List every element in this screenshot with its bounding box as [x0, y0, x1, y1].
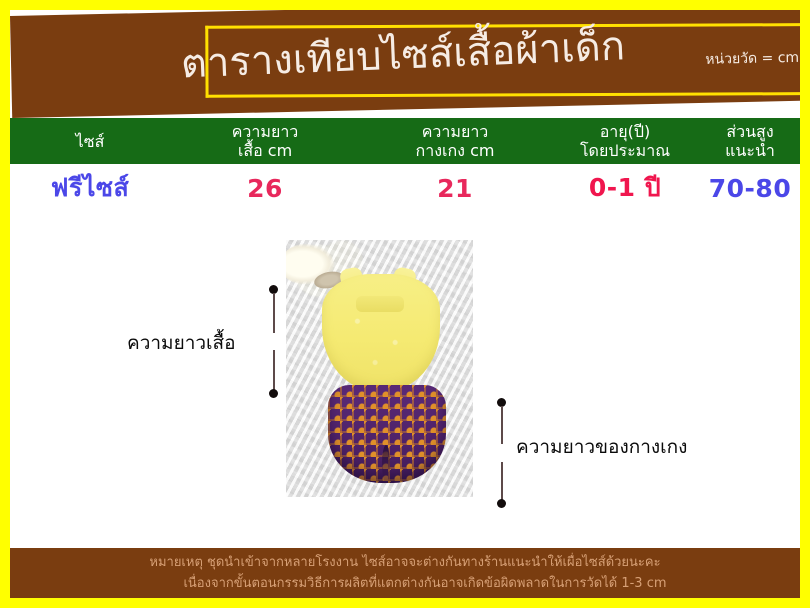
column-header-age-line2: โดยประมาณ [580, 141, 670, 160]
column-header-size-line1: ไซส์ [76, 132, 105, 151]
column-header-height-line2: แนะนำ [725, 141, 775, 160]
garment-bodice [356, 296, 404, 312]
cell-size: ฟรีไซส์ [10, 168, 170, 208]
header-banner: ตารางเทียบไซส์เสื้อผ้าเด็ก หน่วยวัด = cm [10, 10, 800, 118]
cell-shirt-length: 26 [170, 174, 360, 203]
annotation-shirt-length: ความยาวเสื้อ [127, 328, 236, 358]
size-chart-infographic: ตารางเทียบไซส์เสื้อผ้าเด็ก หน่วยวัด = cm… [0, 0, 810, 608]
column-header-shirt-length: ความยาว เสื้อ cm [170, 122, 360, 160]
column-header-shirt-length-line1: ความยาว [232, 122, 299, 141]
measure-dot-bottom-icon [497, 499, 506, 508]
measure-bar-lower [501, 462, 503, 500]
table-row: ฟรีไซส์ 26 21 0-1 ปี 70-80 [10, 164, 800, 212]
column-header-pants-length: ความยาว กางเกง cm [360, 122, 550, 160]
cell-pants-length: 21 [360, 174, 550, 203]
column-header-size: ไซส์ [10, 132, 170, 151]
column-header-pants-length-line2: กางเกง cm [416, 141, 495, 160]
unit-note: หน่วยวัด = cm [705, 47, 799, 71]
column-header-age-line1: อายุ(ปี) [600, 122, 651, 141]
product-photo [286, 240, 473, 497]
footer-note-line2: เนื่องจากขั้นตอนกรรมวิธีการผลิตที่แตกต่า… [143, 573, 666, 594]
footer-note-line1: หมายเหตุ ชุดนำเข้าจากหลายโรงงาน ไซส์อาจจ… [149, 552, 660, 573]
column-header-height-line1: ส่วนสูง [726, 122, 773, 141]
garment-pants-split [382, 445, 390, 483]
footer-note: หมายเหตุ ชุดนำเข้าจากหลายโรงงาน ไซส์อาจจ… [10, 548, 800, 598]
measure-bar-lower [273, 350, 275, 390]
measure-dot-bottom-icon [269, 389, 278, 398]
measure-line-shirt-icon [269, 285, 278, 398]
chart-canvas: ตารางเทียบไซส์เสื้อผ้าเด็ก หน่วยวัด = cm… [10, 10, 800, 598]
measure-line-pants-icon [497, 398, 506, 508]
table-header-row: ไซส์ ความยาว เสื้อ cm ความยาว กางเกง cm … [10, 118, 800, 164]
column-header-shirt-length-line2: เสื้อ cm [238, 141, 292, 160]
cell-height: 70-80 [700, 174, 800, 203]
column-header-height: ส่วนสูง แนะนำ [700, 122, 800, 160]
measure-bar-upper [501, 406, 503, 444]
annotation-pants-length: ความยาวของกางเกง [516, 432, 687, 462]
column-header-pants-length-line1: ความยาว [422, 122, 489, 141]
measure-bar-upper [273, 293, 275, 333]
cell-age: 0-1 ปี [550, 168, 700, 208]
column-header-age: อายุ(ปี) โดยประมาณ [550, 122, 700, 160]
